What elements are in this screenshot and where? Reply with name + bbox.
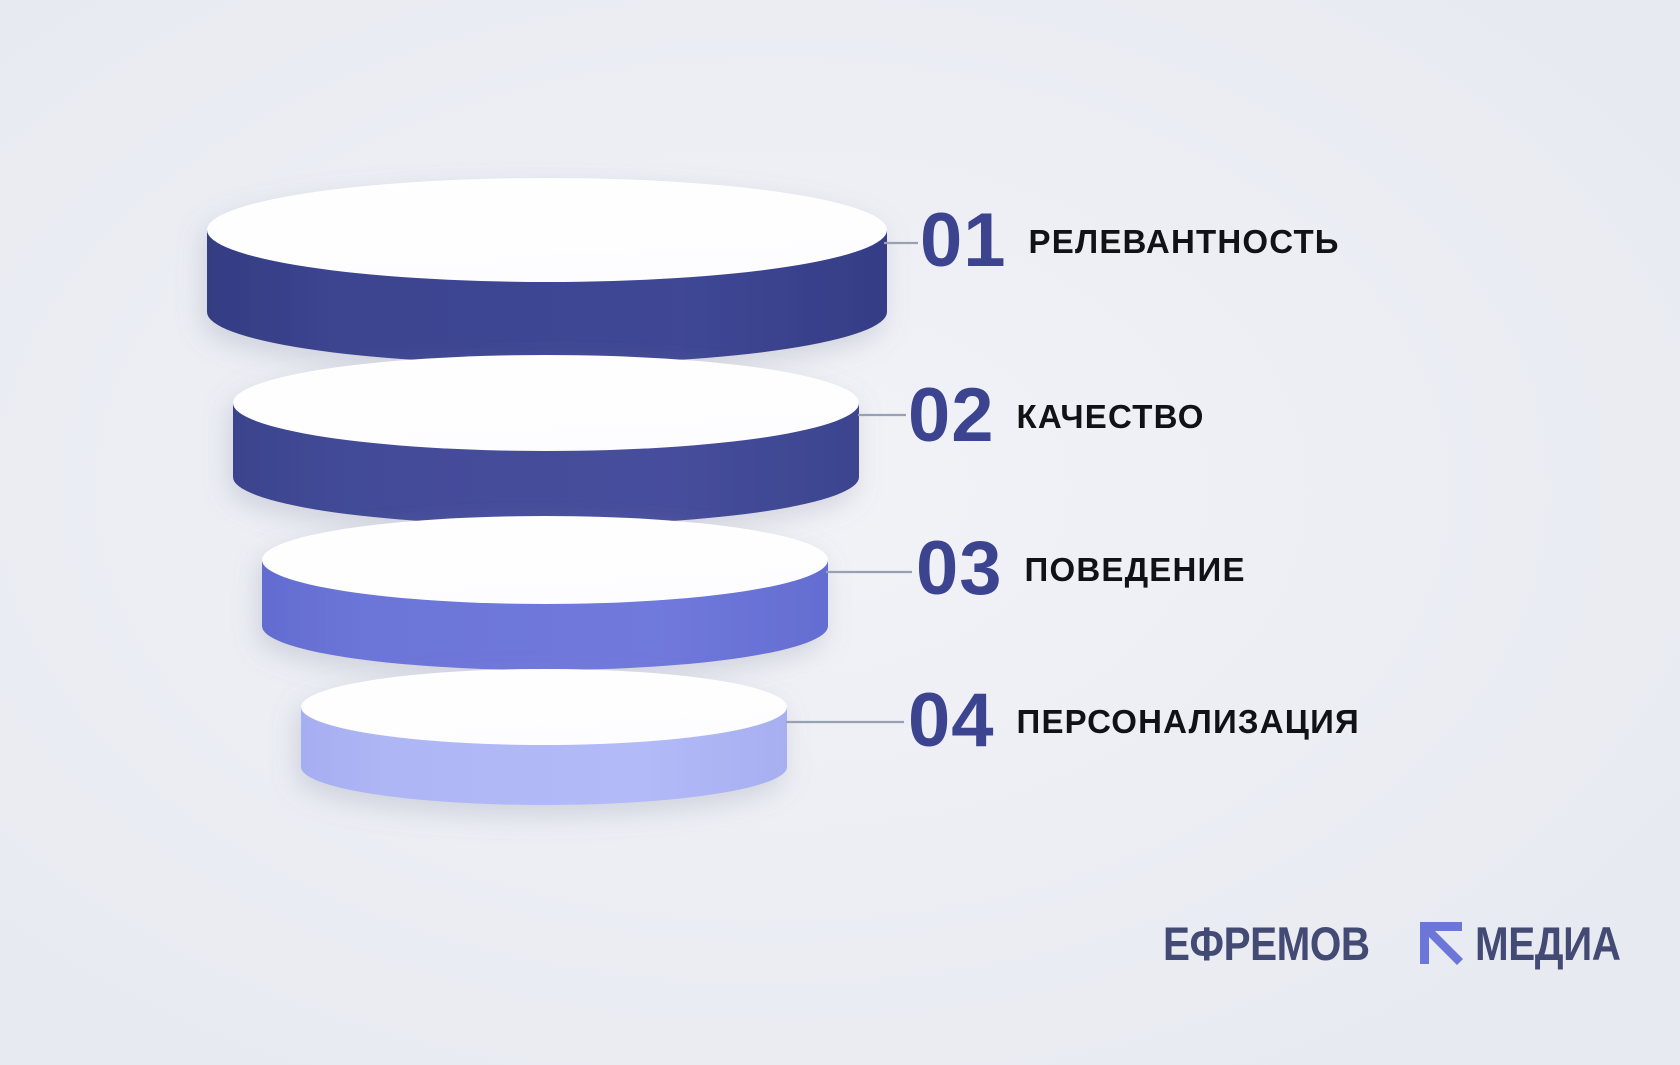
stage-caption-4: ПЕРСОНАЛИЗАЦИЯ (1017, 705, 1360, 738)
funnel-label-2[interactable]: 02 КАЧЕСТВО (908, 378, 1205, 454)
funnel-stage-1[interactable] (207, 178, 887, 364)
infographic-canvas: 01 РЕЛЕВАНТНОСТЬ 02 КАЧЕСТВО 03 ПОВЕДЕНИ… (0, 0, 1680, 1065)
stage-caption-2: КАЧЕСТВО (1017, 400, 1205, 433)
funnel-stage-3[interactable] (262, 516, 828, 670)
stage-caption-3: ПОВЕДЕНИЕ (1025, 553, 1246, 586)
logo-word-right: МЕДИА (1475, 920, 1621, 967)
funnel-stage-4[interactable] (301, 669, 787, 805)
funnel-label-3[interactable]: 03 ПОВЕДЕНИЕ (916, 531, 1246, 607)
logo-word-left: ЕФРЕМОВ (1163, 920, 1370, 967)
funnel-label-1[interactable]: 01 РЕЛЕВАНТНОСТЬ (920, 203, 1340, 279)
arrow-up-left-icon (1416, 918, 1468, 968)
stage-number-4: 04 (908, 683, 995, 759)
funnel-stage-2[interactable] (233, 355, 859, 525)
funnel-diagram (0, 0, 1680, 1065)
brand-logo[interactable]: ЕФРЕМОВ МЕДИА (1163, 918, 1645, 968)
funnel-label-4[interactable]: 04 ПЕРСОНАЛИЗАЦИЯ (908, 683, 1360, 759)
stage-number-2: 02 (908, 378, 995, 454)
stage-caption-1: РЕЛЕВАНТНОСТЬ (1029, 225, 1340, 258)
stage-number-1: 01 (920, 203, 1007, 279)
stage-number-3: 03 (916, 531, 1003, 607)
